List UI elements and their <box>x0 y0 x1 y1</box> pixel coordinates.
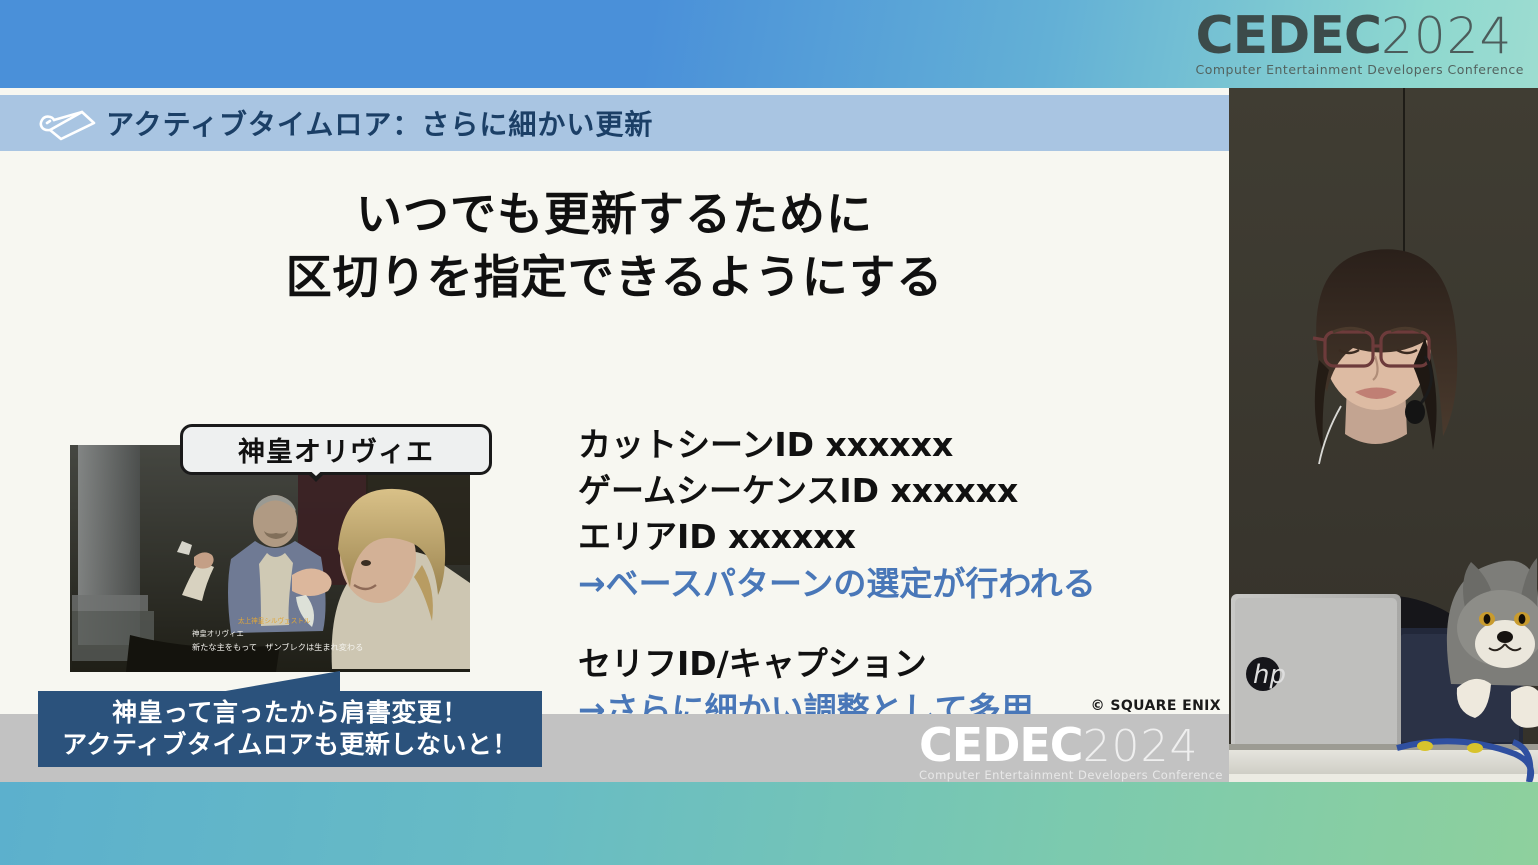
marker-pen-icon <box>30 103 102 143</box>
game-screenshot: 太上神皇シルヴェストル 神皇オリヴィエ 新たな主をもって ザンブレクは生まれ変わ… <box>70 445 470 672</box>
blue-callout-line-1: 神皇って言ったから肩書変更！ <box>112 697 468 729</box>
slide-body-text: カットシーンID xxxxxx ゲームシーケンスID xxxxxx エリアID … <box>578 422 1198 733</box>
top-banner-bar: CEDEC 2024 Computer Entertainment Develo… <box>0 0 1538 88</box>
svg-text:新たな主をもって ザンブレクは生まれ変わる: 新たな主をもって ザンブレクは生まれ変わる <box>192 642 363 652</box>
cedec-logo-year: 2024 <box>1381 11 1512 61</box>
svg-text:神皇オリヴィエ: 神皇オリヴィエ <box>192 629 244 638</box>
blue-callout-tail <box>220 671 340 692</box>
character-name-callout: 神皇オリヴィエ <box>180 424 492 475</box>
blue-callout-line-2: アクティブタイムロアも更新しないと！ <box>62 729 518 761</box>
cedec-footer-subtitle: Computer Entertainment Developers Confer… <box>919 770 1223 782</box>
cedec-logo-footer: CEDEC 2024 Computer Entertainment Develo… <box>919 722 1223 782</box>
presenter-video-art: hp <box>1229 88 1538 782</box>
body-line-5: セリフID/キャプション <box>578 641 1198 687</box>
name-callout-tail-inner <box>304 465 328 476</box>
cedec-footer-wordmark: CEDEC <box>919 722 1083 768</box>
game-screenshot-art: 太上神皇シルヴェストル 神皇オリヴィエ 新たな主をもって ザンブレクは生まれ変わ… <box>70 445 470 672</box>
hp-logo: hp <box>1246 657 1286 691</box>
slide-section-title-bar: アクティブタイムロア：さらに細かい更新 <box>0 95 1229 151</box>
cedec-footer-year: 2024 <box>1083 725 1199 769</box>
headline-line-2: 区切りを指定できるようにする <box>0 246 1229 309</box>
svg-text:hp: hp <box>1253 660 1286 690</box>
body-line-1: カットシーンID xxxxxx <box>578 422 1198 468</box>
body-line-2: ゲームシーケンスID xxxxxx <box>578 468 1198 514</box>
presentation-slide: アクティブタイムロア：さらに細かい更新 いつでも更新するために 区切りを指定でき… <box>0 88 1229 782</box>
copyright-notice: © SQUARE ENIX <box>1091 698 1221 714</box>
headline-line-1: いつでも更新するために <box>0 183 1229 246</box>
cedec-logo-top: CEDEC 2024 Computer Entertainment Develo… <box>1196 10 1525 77</box>
cedec-logo-wordmark: CEDEC <box>1196 10 1382 62</box>
presenter-video-feed: hp <box>1229 88 1538 782</box>
body-line-4: →ベースパターンの選定が行われる <box>578 561 1198 607</box>
bottom-banner-bar <box>0 782 1538 865</box>
body-spacer <box>578 607 1198 641</box>
slide-headline: いつでも更新するために 区切りを指定できるようにする <box>0 183 1229 308</box>
body-line-3: エリアID xxxxxx <box>578 514 1198 560</box>
svg-text:太上神皇シルヴェストル: 太上神皇シルヴェストル <box>238 616 311 625</box>
slide-section-title: アクティブタイムロア：さらに細かい更新 <box>106 103 653 143</box>
cedec-logo-subtitle: Computer Entertainment Developers Confer… <box>1196 64 1525 77</box>
blue-speech-callout: 神皇って言ったから肩書変更！ アクティブタイムロアも更新しないと！ <box>38 691 542 767</box>
